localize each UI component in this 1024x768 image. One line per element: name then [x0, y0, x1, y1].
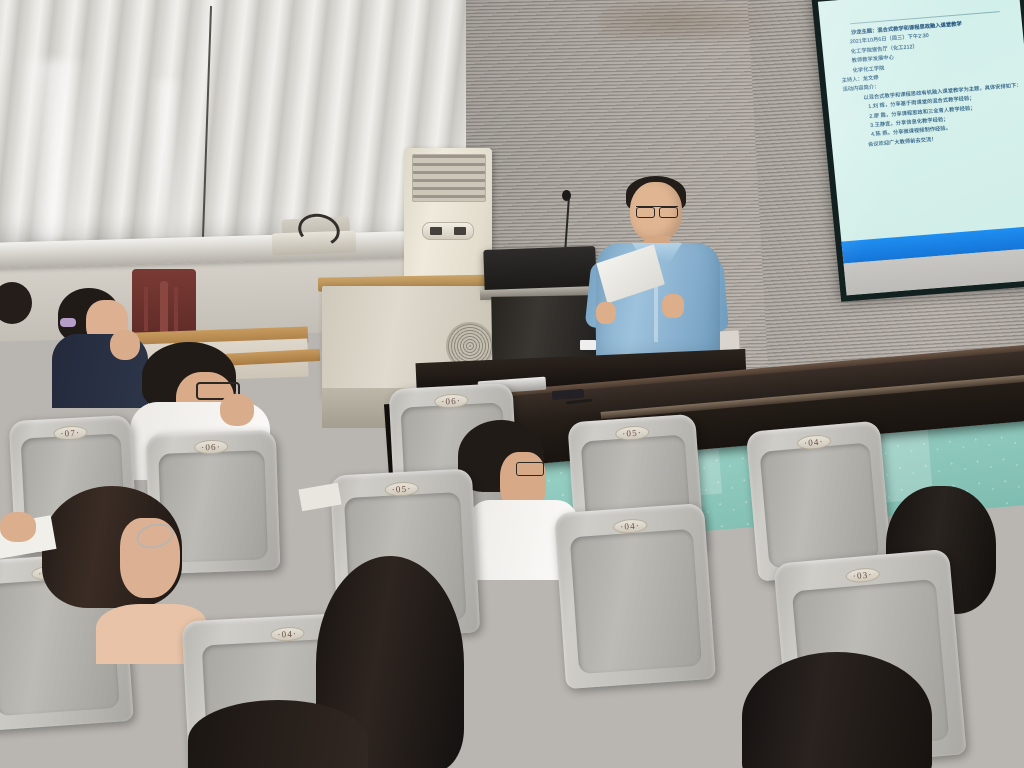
presenter-right-hand	[662, 294, 684, 318]
lecture-hall-photo: 沙龙主题：混合式教学和课程思政融入课堂教学 2021年10月6日（周三）下午2:…	[0, 0, 1024, 768]
person-front-left-hand	[0, 512, 36, 542]
seat-number: ·04·	[270, 626, 304, 642]
ac-control-panel[interactable]	[422, 222, 474, 240]
person-center-glasses-icon	[516, 462, 544, 476]
curtain-highlight	[20, 60, 90, 240]
wall-stain	[600, 0, 780, 40]
curtain-highlight-2	[150, 80, 184, 240]
seat-r2-c3[interactable]: ·04·	[554, 503, 716, 689]
ac-vent-grille	[412, 154, 486, 202]
presenter-left-hand	[596, 302, 616, 324]
projector-screen-frame: 沙龙主题：混合式教学和课程思政融入课堂教学 2021年10月6日（周三）下午2:…	[811, 0, 1024, 302]
hair-clip-icon	[60, 318, 76, 327]
person-left-navy-hand	[110, 330, 140, 360]
microphone-icon	[562, 190, 571, 201]
person-white-shirt-hand	[220, 394, 254, 426]
projector-screen: 沙龙主题：混合式教学和课程思政融入课堂教学 2021年10月6日（周三）下午2:…	[818, 0, 1024, 295]
screen-glare	[818, 0, 1024, 295]
lectern-label	[580, 340, 596, 350]
glasses-icon	[636, 206, 678, 217]
seat-number: ·03·	[845, 567, 880, 584]
